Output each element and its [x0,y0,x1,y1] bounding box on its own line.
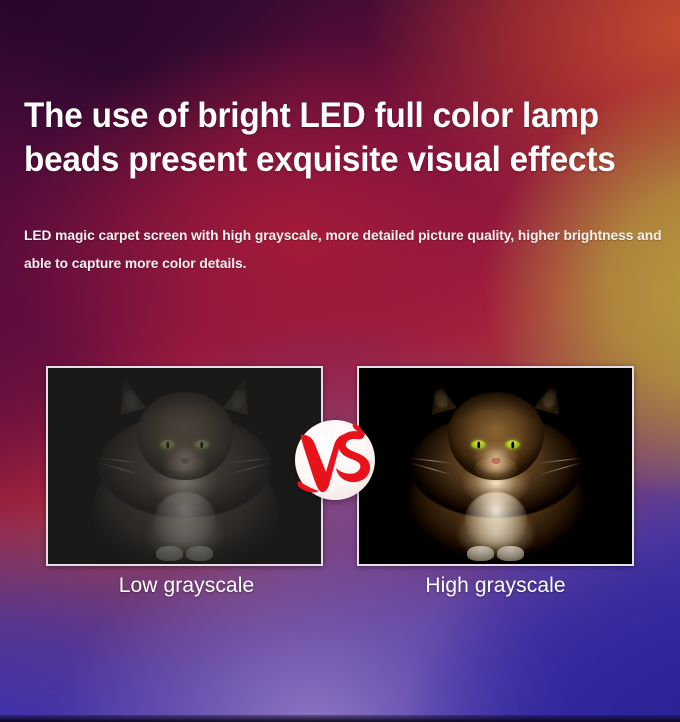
comparison-panel-high-grayscale [357,366,634,566]
photo-frame-low-grayscale [46,366,323,566]
grayscale-comparison: Low grayscale High grayscale [0,0,680,722]
comparison-panel-low-grayscale [46,366,323,566]
caption-high-grayscale: High grayscale [355,574,636,598]
cat-photo-high-grayscale [359,368,632,564]
photo-vignette [359,368,632,564]
promo-banner: The use of bright LED full color lamp be… [0,0,680,722]
photo-vignette [48,368,321,564]
cat-photo-low-grayscale [48,368,321,564]
vs-badge-icon [293,417,379,503]
vs-letters-icon [293,417,379,503]
caption-low-grayscale: Low grayscale [46,574,327,598]
photo-frame-high-grayscale [357,366,634,566]
